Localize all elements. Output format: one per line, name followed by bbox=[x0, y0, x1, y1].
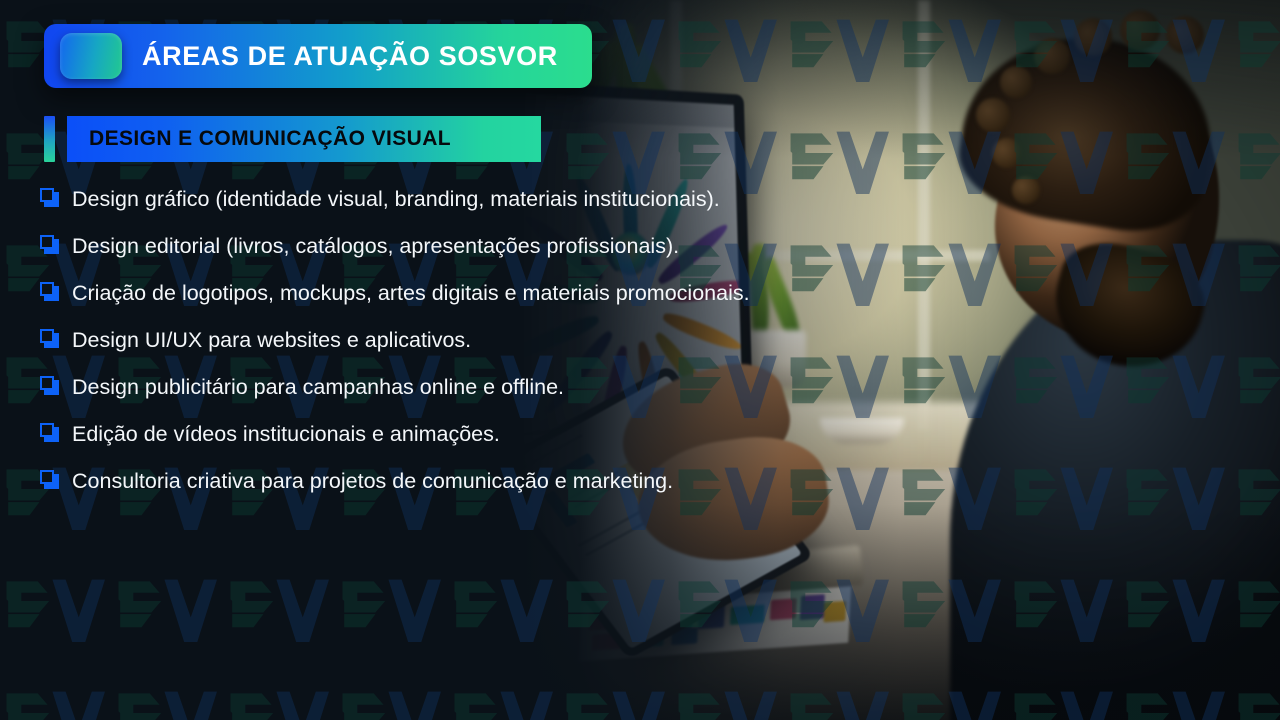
list-item: Consultoria criativa para projetos de co… bbox=[40, 460, 776, 503]
bullet-list: Design gráfico (identidade visual, brand… bbox=[40, 178, 776, 507]
list-item: Edição de vídeos institucionais e animaç… bbox=[40, 413, 776, 456]
list-item: Design publicitário para campanhas onlin… bbox=[40, 366, 776, 409]
list-item-text: Design editorial (livros, catálogos, apr… bbox=[72, 225, 776, 268]
list-item-text: Design gráfico (identidade visual, brand… bbox=[72, 178, 776, 221]
slide-content: ÁREAS DE ATUAÇÃO SOSVOR DESIGN E COMUNIC… bbox=[0, 0, 1280, 720]
shadowed-square-bullet-icon bbox=[40, 235, 60, 255]
shadowed-square-bullet-icon bbox=[40, 376, 60, 396]
list-item: Design gráfico (identidade visual, brand… bbox=[40, 178, 776, 221]
page-title-bar: ÁREAS DE ATUAÇÃO SOSVOR bbox=[44, 24, 592, 88]
list-item: Criação de logotipos, mockups, artes dig… bbox=[40, 272, 776, 315]
list-item-text: Design UI/UX para websites e aplicativos… bbox=[72, 319, 776, 362]
section-header: DESIGN E COMUNICAÇÃO VISUAL bbox=[44, 116, 541, 162]
list-item: Design editorial (livros, catálogos, apr… bbox=[40, 225, 776, 268]
slide-root: ÁREAS DE ATUAÇÃO SOSVOR DESIGN E COMUNIC… bbox=[0, 0, 1280, 720]
list-item-text: Design publicitário para campanhas onlin… bbox=[72, 366, 776, 409]
shadowed-square-bullet-icon bbox=[40, 423, 60, 443]
list-item-text: Criação de logotipos, mockups, artes dig… bbox=[72, 272, 776, 315]
shadowed-square-bullet-icon bbox=[40, 329, 60, 349]
shadowed-square-bullet-icon bbox=[40, 188, 60, 208]
section-label-bar: DESIGN E COMUNICAÇÃO VISUAL bbox=[67, 116, 541, 162]
shadowed-square-bullet-icon bbox=[40, 282, 60, 302]
shadowed-square-bullet-icon bbox=[40, 470, 60, 490]
page-title: ÁREAS DE ATUAÇÃO SOSVOR bbox=[142, 41, 558, 72]
rounded-square-badge-icon bbox=[60, 33, 122, 79]
section-label: DESIGN E COMUNICAÇÃO VISUAL bbox=[89, 127, 451, 151]
vertical-gradient-accent-bar bbox=[44, 116, 55, 162]
list-item-text: Edição de vídeos institucionais e animaç… bbox=[72, 413, 776, 456]
list-item-text: Consultoria criativa para projetos de co… bbox=[72, 460, 776, 503]
list-item: Design UI/UX para websites e aplicativos… bbox=[40, 319, 776, 362]
